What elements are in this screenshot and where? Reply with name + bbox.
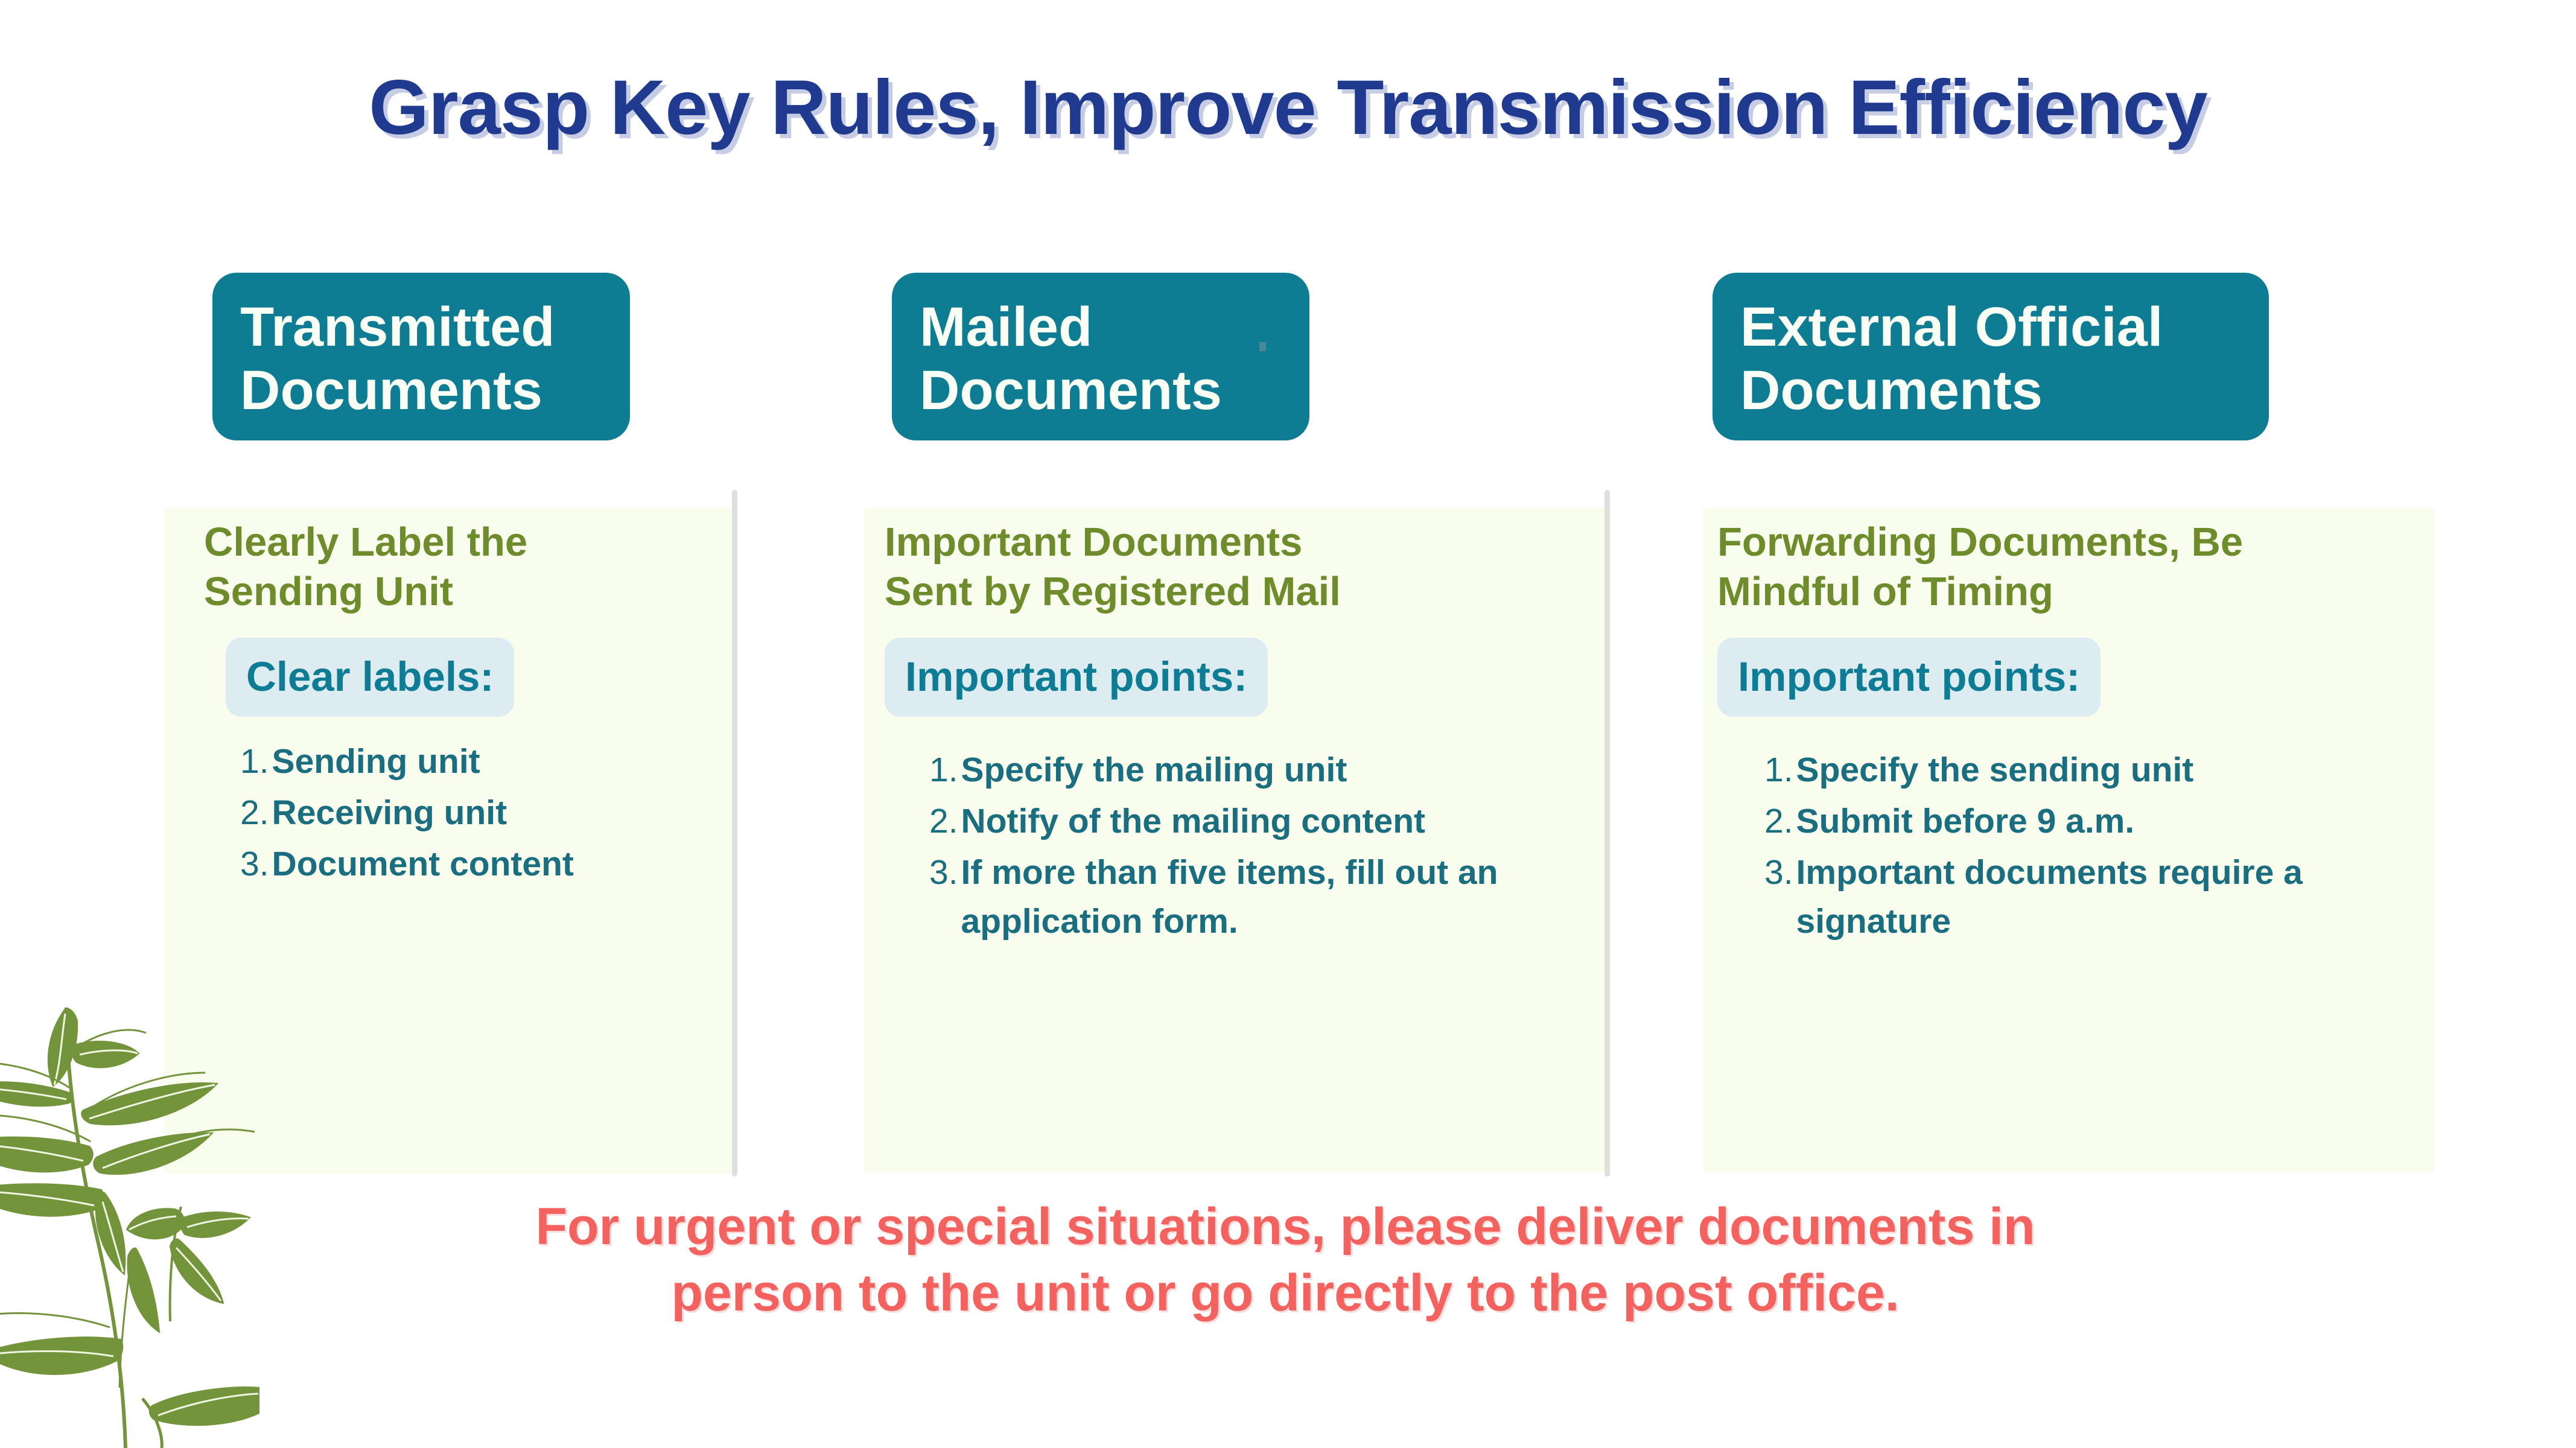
list-item-text: Notify of the mailing content — [961, 797, 1425, 846]
list-item-text: Receiving unit — [272, 789, 507, 837]
column-subheading: Important Documents Sent by Registered M… — [885, 518, 1573, 616]
header-line-2: Documents — [1740, 359, 2241, 422]
list-item-text: Important documents require a signature — [1796, 848, 2417, 946]
header-line-1: Mailed — [920, 296, 1282, 359]
list-item-text: Submit before 9 a.m. — [1796, 797, 2135, 846]
header-line-1: External Official — [1740, 296, 2241, 359]
list-item-number: 1. — [929, 746, 958, 795]
column-body-mailed: Important Documents Sent by Registered M… — [885, 518, 1573, 948]
column-divider-1 — [732, 490, 737, 1176]
list-item-text: If more than five items, fill out an app… — [961, 848, 1573, 946]
header-line-2: Documents — [920, 359, 1282, 422]
list-item: 2. Notify of the mailing content — [929, 797, 1573, 846]
header-box-transmitted-documents[interactable]: Transmitted Documents — [212, 273, 630, 440]
subheading-line-1: Forwarding Documents, Be — [1717, 518, 2417, 567]
list-item-text: Specify the mailing unit — [961, 746, 1347, 795]
list-item-number: 2. — [240, 789, 269, 837]
list-item: 3. If more than five items, fill out an … — [929, 848, 1573, 946]
list-item-number: 2. — [1764, 797, 1793, 846]
column-body-transmitted: Clearly Label the Sending Unit Clear lab… — [204, 518, 705, 891]
list-item: 3. Important documents require a signatu… — [1764, 848, 2417, 946]
column-body-external: Forwarding Documents, Be Mindful of Timi… — [1717, 518, 2417, 948]
list-item-text: Specify the sending unit — [1796, 746, 2194, 795]
list-item: 3. Document content — [240, 840, 705, 889]
numbered-list: 1. Specify the mailing unit 2. Notify of… — [929, 746, 1573, 946]
numbered-list: 1. Specify the sending unit 2. Submit be… — [1764, 746, 2417, 946]
subheading-line-2: Mindful of Timing — [1717, 567, 2417, 617]
list-item: 2. Receiving unit — [240, 789, 705, 837]
list-item-text: Document content — [272, 840, 574, 889]
subheading-line-1: Important Documents — [885, 518, 1573, 567]
column-subheading: Clearly Label the Sending Unit — [204, 518, 705, 616]
list-item: 1. Sending unit — [240, 737, 705, 786]
list-item-number: 1. — [1764, 746, 1793, 795]
subheading-line-2: Sending Unit — [204, 567, 705, 617]
numbered-list: 1. Sending unit 2. Receiving unit 3. Doc… — [240, 737, 705, 889]
header-box-external-official-documents[interactable]: External Official Documents — [1713, 273, 2269, 440]
list-item-number: 2. — [929, 797, 958, 846]
column-divider-2 — [1604, 490, 1610, 1176]
list-item: 1. Specify the sending unit — [1764, 746, 2417, 795]
list-item-number: 1. — [240, 737, 269, 786]
footer-line-1: For urgent or special situations, please… — [229, 1193, 2341, 1260]
list-item: 2. Submit before 9 a.m. — [1764, 797, 2417, 846]
subheading-line-1: Clearly Label the — [204, 518, 705, 567]
list-item: 1. Specify the mailing unit — [929, 746, 1573, 795]
subheading-line-2: Sent by Registered Mail — [885, 567, 1573, 617]
header-box-mailed-documents[interactable]: Mailed Documents — [892, 273, 1309, 440]
chip-label-important-points: Important points: — [1717, 638, 2101, 717]
list-item-text: Sending unit — [272, 737, 480, 786]
list-item-number: 3. — [240, 840, 269, 889]
list-item-number: 3. — [1764, 848, 1793, 897]
chip-label-important-points: Important points: — [885, 638, 1268, 717]
column-subheading: Forwarding Documents, Be Mindful of Timi… — [1717, 518, 2417, 616]
footer-note: For urgent or special situations, please… — [229, 1193, 2341, 1326]
chip-label-clear-labels: Clear labels: — [226, 638, 514, 717]
list-item-number: 3. — [929, 848, 958, 897]
footer-line-2: person to the unit or go directly to the… — [229, 1260, 2341, 1326]
dot-artifact-icon — [1259, 342, 1266, 351]
header-line-2: Documents — [240, 359, 602, 422]
header-line-1: Transmitted — [240, 296, 602, 359]
